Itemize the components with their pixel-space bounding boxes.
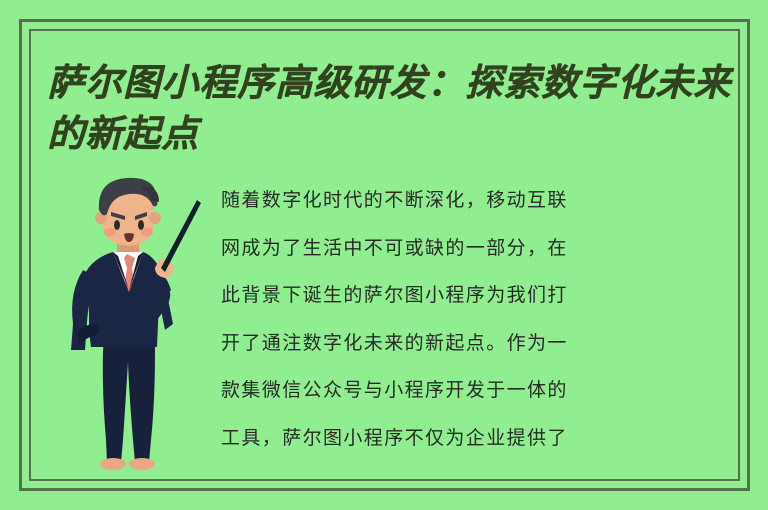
body-line: 款集微信公众号与小程序开发于一体的	[221, 367, 723, 415]
ear-right	[149, 212, 161, 224]
body-line: 工具，萨尔图小程序不仅为企业提供了	[221, 415, 723, 463]
poster-canvas: 萨尔图小程序高级研发：探索数字化未来的新起点 随着数字化时代的不断深化，移动互联…	[0, 0, 768, 510]
cheek-left	[104, 228, 116, 236]
body-line: 网成为了生活中不可或缺的一部分，在	[221, 225, 723, 273]
eye-left	[114, 220, 120, 230]
pointer-stick	[161, 200, 201, 272]
article-body: 随着数字化时代的不断深化，移动互联 网成为了生活中不可或缺的一部分，在 此背景下…	[221, 177, 723, 462]
shoe-right	[129, 458, 155, 470]
body-line: 此背景下诞生的萨尔图小程序为我们打	[221, 272, 723, 320]
page-title: 萨尔图小程序高级研发：探索数字化未来的新起点	[47, 57, 737, 159]
body-line: 随着数字化时代的不断深化，移动互联	[221, 177, 723, 225]
body-line: 开了通注数字化未来的新起点。作为一	[221, 320, 723, 368]
businessman-with-pointer-illustration	[55, 172, 220, 472]
shoe-left	[100, 458, 126, 470]
eye-right	[138, 220, 144, 230]
cheek-right	[141, 228, 153, 236]
